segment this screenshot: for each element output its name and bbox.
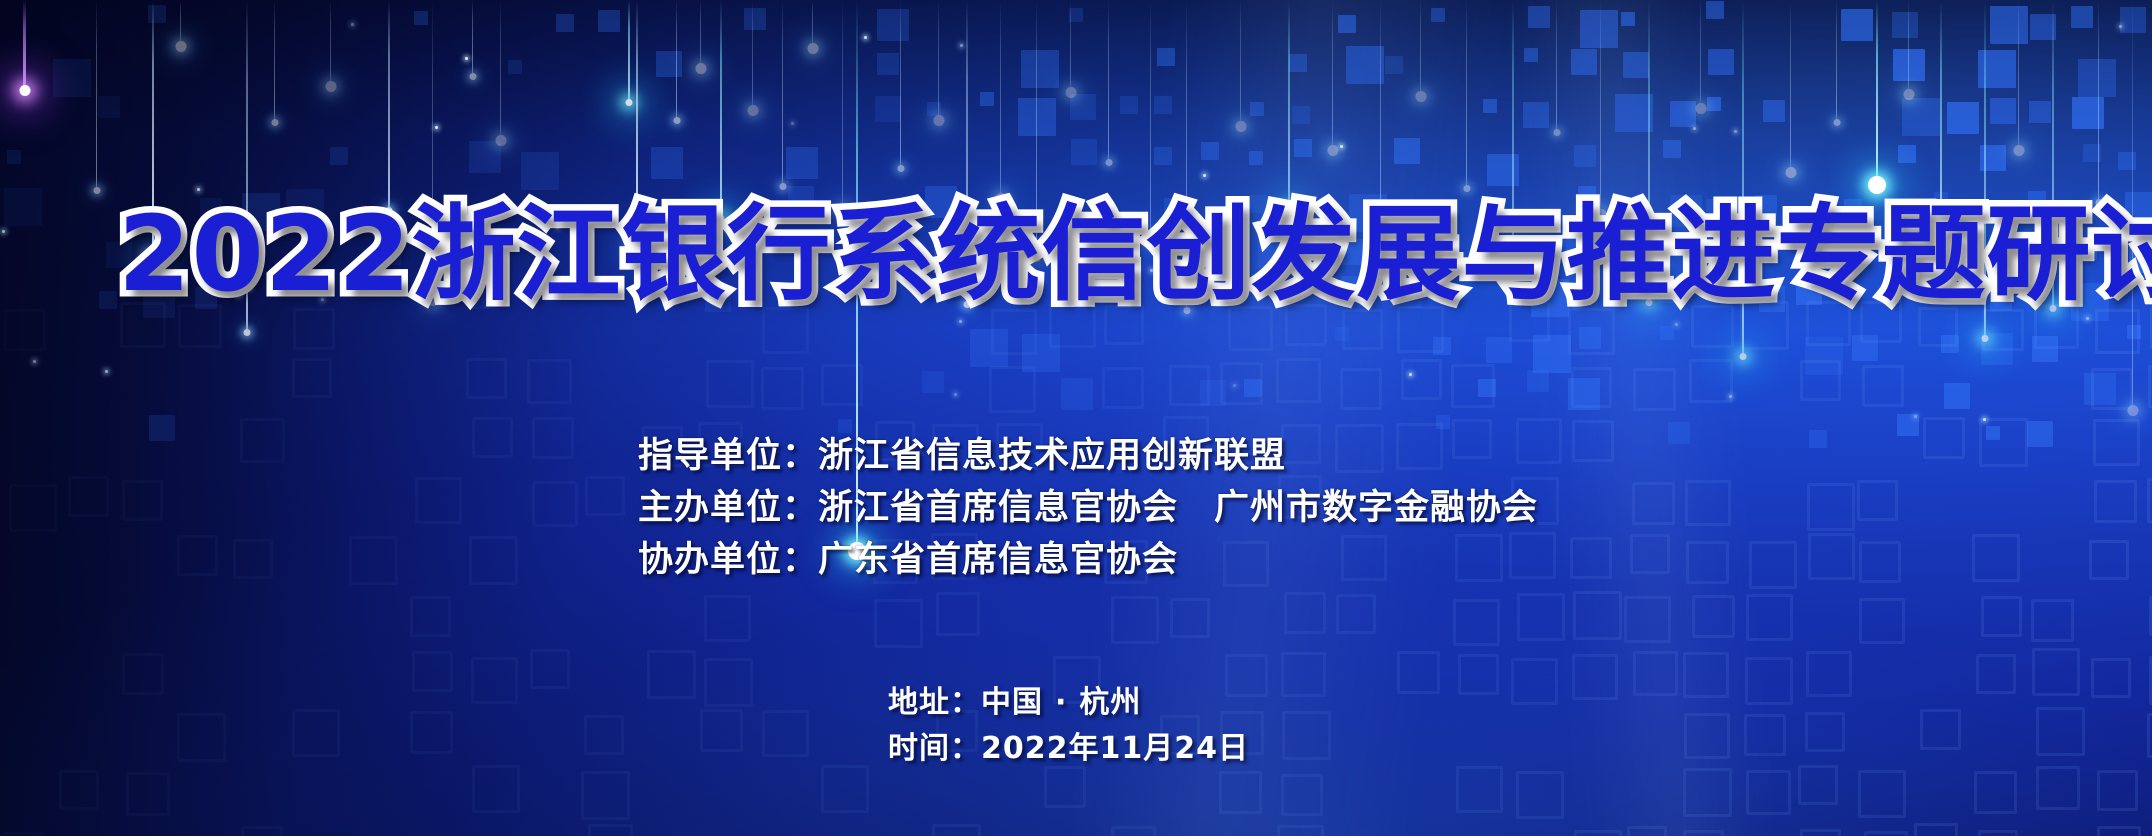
light-streak-dot-icon (495, 135, 506, 146)
light-streak (500, 0, 501, 140)
organizer-line-host: 主办单位：浙江省首席信息官协会 广州市数字金融协会 (638, 482, 1538, 534)
spark-dot-icon (959, 320, 962, 323)
light-streak (180, 0, 181, 46)
event-banner: 2022浙江银行系统信创发展与推进专题研讨会 指导单位：浙江省信息技术应用创新联… (0, 0, 2152, 836)
light-streak (1836, 0, 1837, 120)
spark-dot-icon (1734, 130, 1737, 133)
spark-dot-icon (960, 44, 963, 47)
light-streak-dot-icon (2013, 145, 2024, 156)
light-streak (1240, 0, 1241, 126)
spark-dot-icon (1409, 373, 1412, 376)
spark-dot-icon (435, 126, 438, 129)
light-streak-dot-icon (175, 41, 186, 52)
spark-dot-icon (2086, 317, 2089, 320)
light-streak (842, 0, 843, 210)
venue-address-separator: · (1043, 685, 1079, 720)
spark-dot-icon (1729, 395, 1732, 398)
spark-dot-icon (465, 57, 468, 60)
light-streak (2098, 0, 2099, 200)
light-streak-dot-icon (1785, 167, 1796, 178)
spark-dot-icon (1203, 174, 1206, 177)
light-streak (1288, 0, 1290, 206)
spark-dot-icon (33, 360, 36, 363)
light-streak (1108, 0, 1109, 160)
light-streak-dot-icon (626, 99, 633, 106)
light-streak-dot-icon (695, 63, 706, 74)
light-streak-dot-icon (1105, 159, 1112, 166)
light-streak-dot-icon (1235, 121, 1246, 132)
light-streak-dot-icon (1740, 353, 1747, 360)
light-streak (330, 0, 331, 86)
light-streak (388, 0, 390, 208)
light-streak-dot-icon (673, 117, 680, 124)
organizer-line-co-host: 协办单位：广东省首席信息官协会 (638, 534, 1538, 586)
spark-dot-icon (1693, 127, 1696, 130)
light-streak (1420, 0, 1421, 96)
light-streak-dot-icon (779, 183, 786, 190)
light-streak-dot-icon (1553, 129, 1560, 136)
venue-address-label: 地址： (888, 685, 981, 720)
organizer-line-guidance: 指导单位：浙江省信息技术应用创新联盟 (638, 430, 1538, 482)
light-streak (96, 0, 97, 188)
light-streak-dot-icon (2127, 405, 2138, 416)
light-streak-dot-icon (19, 85, 30, 96)
spark-dot-icon (197, 188, 200, 191)
venue-address: 地址：中国·杭州 (888, 680, 1249, 726)
light-streak-dot-icon (469, 73, 476, 80)
spark-dot-icon (105, 370, 108, 373)
light-streak (1600, 0, 1601, 214)
spark-dot-icon (1983, 418, 1986, 421)
venue-time-label: 时间： (888, 731, 981, 766)
light-streak (1790, 0, 1791, 172)
light-streak (628, 0, 630, 100)
light-streak (720, 0, 722, 216)
light-streak-dot-icon (1903, 89, 1914, 100)
light-streak (1700, 0, 1701, 108)
light-streak (2018, 0, 2019, 150)
spark-dot-icon (1233, 384, 1236, 387)
spark-dot-icon (2119, 25, 2122, 28)
light-streak-dot-icon (1982, 335, 1989, 342)
light-streak-dot-icon (897, 165, 904, 172)
light-streak-dot-icon (93, 187, 100, 194)
light-streak-dot-icon (1695, 103, 1706, 114)
light-streak-dot-icon (271, 119, 278, 126)
light-streak (1908, 0, 1909, 94)
light-streak-dot-icon (1833, 119, 1840, 126)
venue-address-city: 杭州 (1079, 685, 1141, 720)
spark-dot-icon (1340, 145, 1343, 148)
light-streak-dot-icon (1327, 145, 1338, 156)
venue-address-country: 中国 (981, 685, 1043, 720)
light-streak-dot-icon (1868, 176, 1886, 194)
light-streak-dot-icon (807, 43, 818, 54)
light-streak (274, 0, 275, 120)
light-streak (472, 0, 473, 74)
light-streak (1876, 0, 1878, 188)
venue-time: 时间：2022年11月24日 (888, 726, 1249, 772)
light-streak-dot-icon (1065, 87, 1076, 98)
light-streak (676, 0, 677, 118)
light-streak (1466, 0, 1467, 186)
spark-dot-icon (864, 36, 867, 39)
light-streak (23, 0, 26, 90)
light-streak (700, 0, 701, 68)
spark-dot-icon (1914, 415, 1917, 418)
event-title: 2022浙江银行系统信创发展与推进专题研讨会 (118, 196, 2152, 312)
spark-dot-icon (2, 230, 5, 233)
light-streak-dot-icon (1415, 91, 1426, 102)
light-streak (900, 0, 901, 166)
light-streak-dot-icon (747, 105, 758, 116)
light-streak (938, 0, 939, 120)
light-streak-dot-icon (325, 81, 336, 92)
light-streak (752, 0, 753, 110)
light-streak-dot-icon (1463, 185, 1470, 192)
light-streak-dot-icon (933, 115, 944, 126)
venue-info: 地址：中国·杭州 时间：2022年11月24日 (888, 680, 1249, 772)
spark-dot-icon (1675, 323, 1678, 326)
spark-dot-icon (351, 23, 354, 26)
light-streak (1556, 0, 1557, 130)
light-streak (1332, 0, 1333, 150)
light-streak (1070, 0, 1071, 92)
light-streak (782, 0, 783, 184)
light-streak (1000, 0, 1001, 198)
organizer-list: 指导单位：浙江省信息技术应用创新联盟 主办单位：浙江省首席信息官协会 广州市数字… (638, 430, 1538, 586)
spark-dot-icon (791, 122, 794, 125)
spark-dot-icon (954, 393, 957, 396)
venue-time-value: 2022年11月24日 (981, 731, 1249, 766)
light-streak (812, 0, 813, 48)
light-streak-dot-icon (244, 329, 251, 336)
